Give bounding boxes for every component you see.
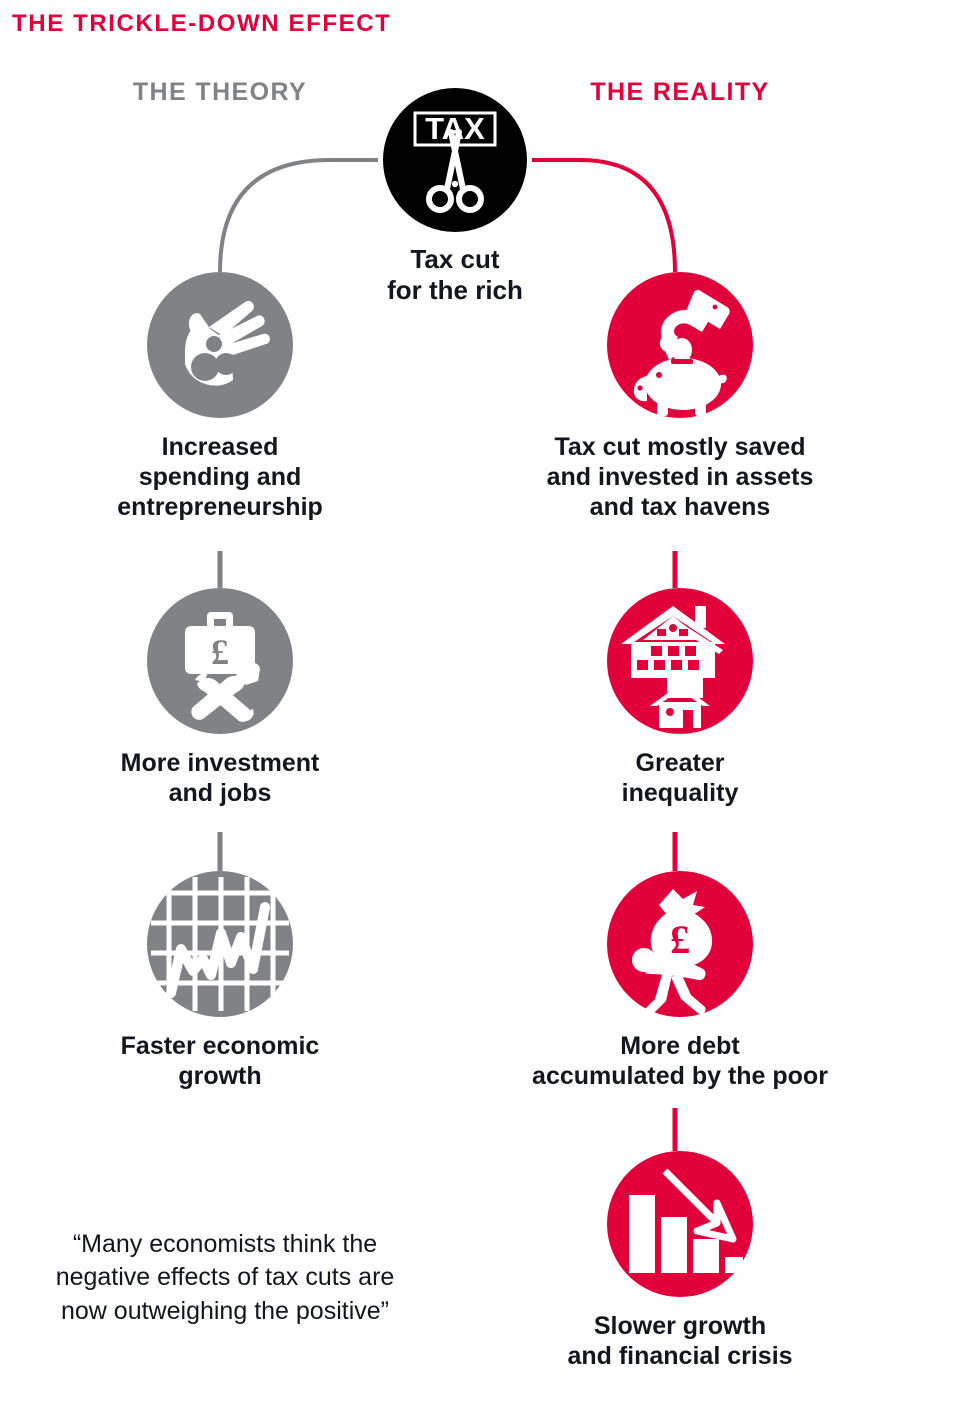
declining-bar-chart-arrow-icon [607,1151,753,1297]
big-and-small-house-icon-svg [607,588,753,734]
node-reality-step-3-label: More debt accumulated by the poor [505,1031,855,1091]
tax-scissors-icon-svg: TAX [383,88,527,232]
svg-text:£: £ [670,917,690,962]
big-and-small-house-icon [607,588,753,734]
page-title: THE TRICKLE-DOWN EFFECT [12,10,391,38]
node-reality-step-1-label: Tax cut mostly saved and invested in ass… [505,432,855,522]
node-theory-step-2: £ More investment and jobs [55,588,385,808]
declining-bar-chart-arrow-icon-svg [607,1151,753,1297]
hand-coin-piggy-bank-icon [607,272,753,418]
node-reality-step-3: £ More debt accumulated by the poor [505,871,855,1091]
node-theory-step-3-label: Faster economic growth [55,1031,385,1091]
hand-with-coins-icon [147,272,293,418]
node-reality-step-2-label: Greater inequality [505,748,855,808]
node-theory-step-2-label: More investment and jobs [55,748,385,808]
hand-with-coins-icon-svg [147,272,293,418]
economist-quote: “Many economists think the negative effe… [35,1228,415,1328]
rising-line-chart-icon-svg [147,871,293,1017]
node-theory-step-1-label: Increased spending and entrepreneurship [55,432,385,522]
node-theory-step-1: Increased spending and entrepreneurship [55,272,385,522]
briefcase-tools-icon: £ [147,588,293,734]
node-reality-step-2: Greater inequality [505,588,855,808]
node-theory-step-3: Faster economic growth [55,871,385,1091]
person-carrying-money-bag-icon: £ [607,871,753,1017]
node-reality-step-4: Slower growth and financial crisis [505,1151,855,1371]
node-reality-step-4-label: Slower growth and financial crisis [505,1311,855,1371]
briefcase-tools-icon-svg: £ [147,588,293,734]
svg-text:£: £ [211,632,229,672]
rising-line-chart-icon [147,871,293,1017]
trickle-down-infographic: THE TRICKLE-DOWN EFFECT THE THEORY THE R… [0,0,980,1413]
person-carrying-money-bag-icon-svg: £ [607,871,753,1017]
hand-coin-piggy-bank-icon-svg [607,272,753,418]
node-reality-step-1: Tax cut mostly saved and invested in ass… [505,272,855,522]
tax-scissors-icon: TAX [383,88,527,232]
